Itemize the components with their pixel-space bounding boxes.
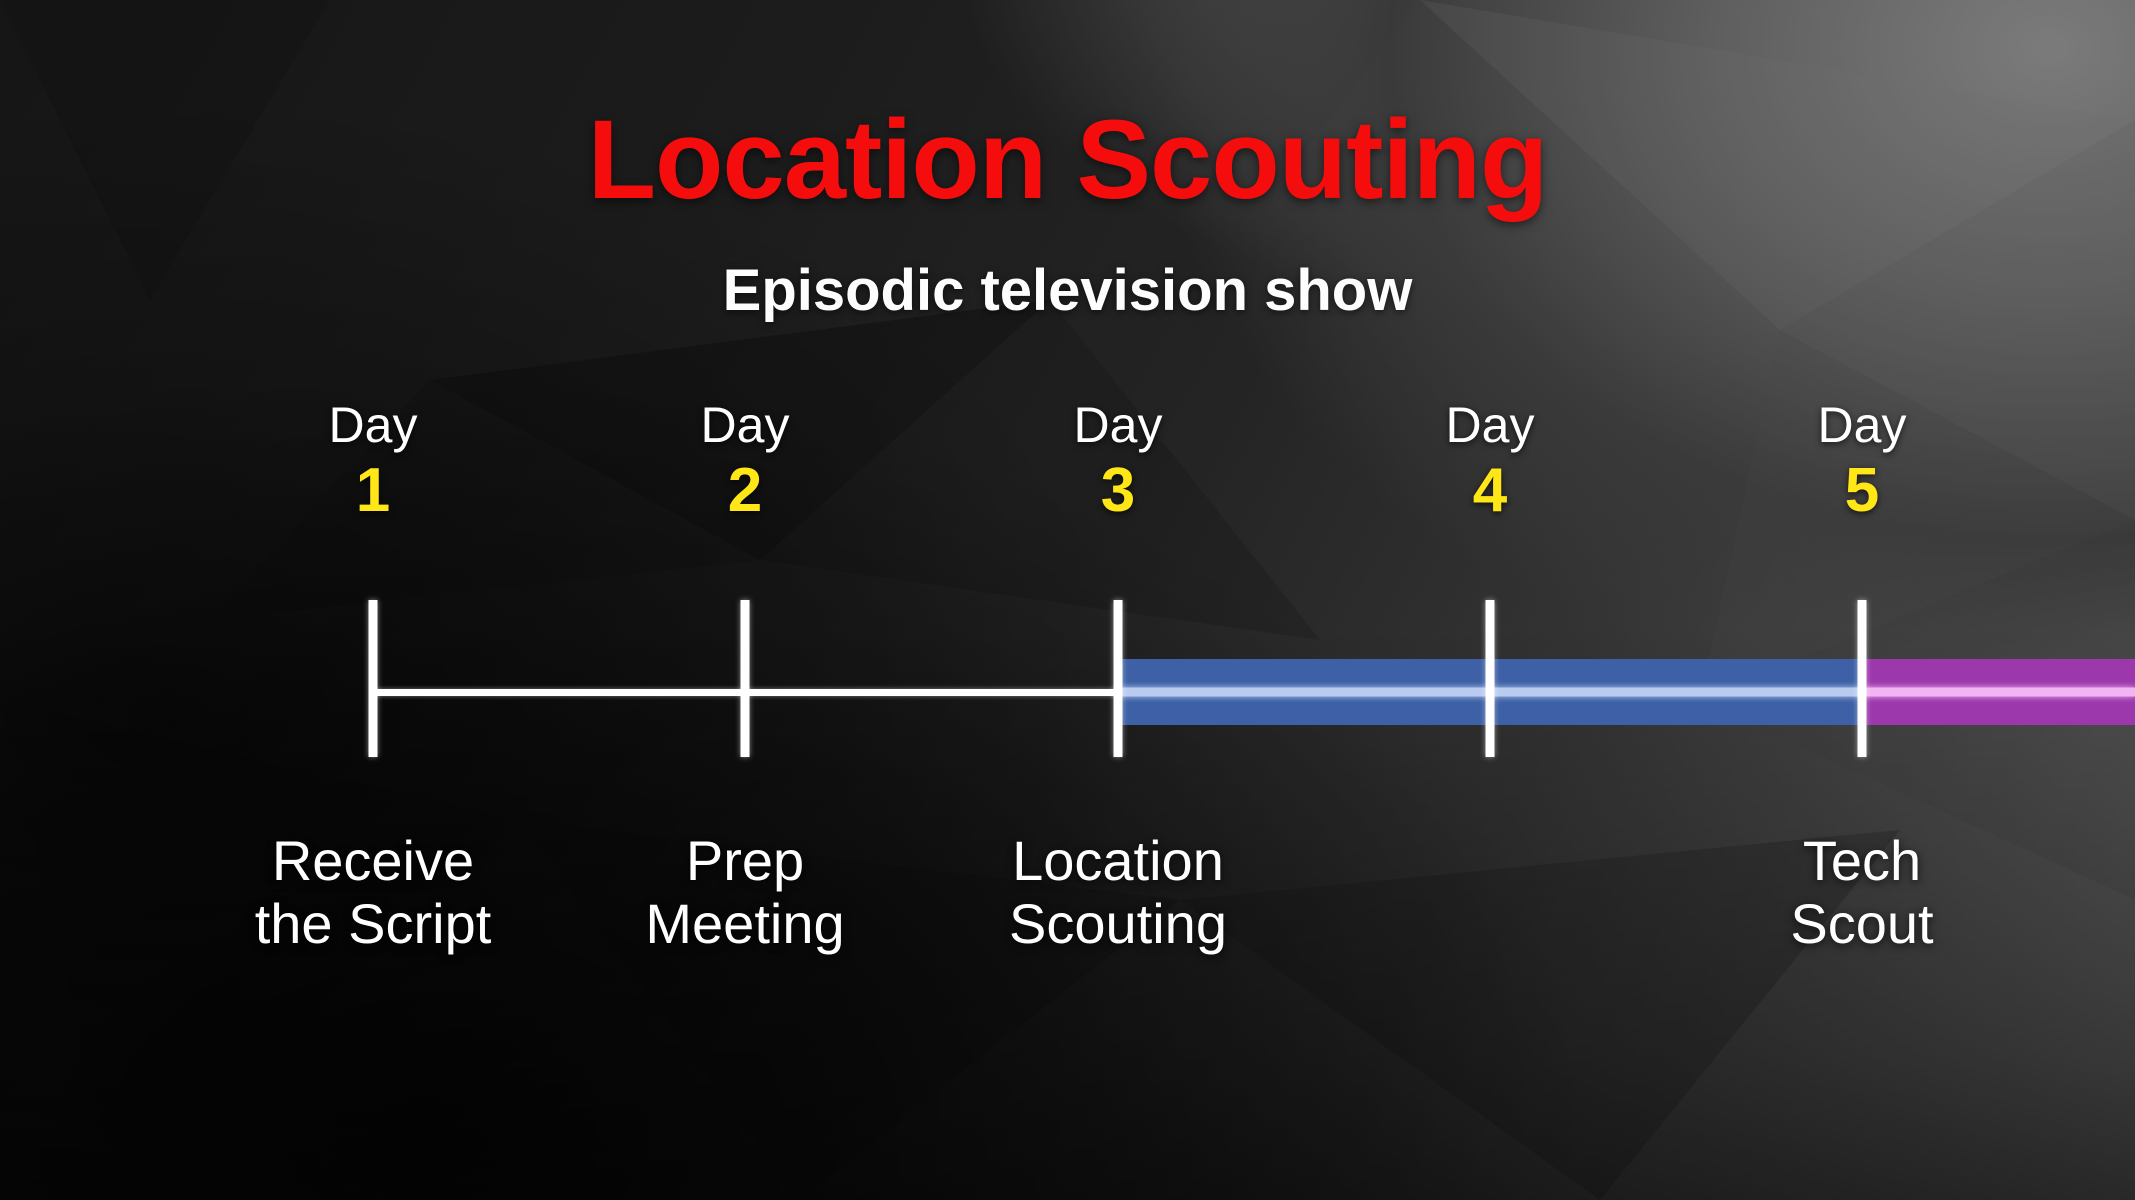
timeline-tick-day-2 — [741, 600, 750, 757]
timeline-tick-day-3 — [1114, 600, 1123, 757]
timeline-tick-day-4 — [1486, 600, 1495, 757]
event-label-line: Prep — [535, 830, 955, 893]
event-label-line: the Script — [163, 893, 583, 956]
day-number: 2 — [595, 460, 895, 522]
day-number: 4 — [1340, 460, 1640, 522]
day-label-2: Day2 — [595, 400, 895, 522]
day-number: 5 — [1712, 460, 2012, 522]
slide-canvas: Location Scouting Episodic television sh… — [0, 0, 2135, 1200]
day-label-5: Day5 — [1712, 400, 2012, 522]
day-word: Day — [1340, 400, 1640, 450]
day-word: Day — [1712, 400, 2012, 450]
event-label-line: Scout — [1652, 893, 2072, 956]
event-label-line: Location — [908, 830, 1328, 893]
timeline-graphic: Day1Receivethe ScriptDay2PrepMeetingDay3… — [0, 0, 2135, 1200]
event-label-day-2: PrepMeeting — [535, 830, 955, 955]
event-label-line: Scouting — [908, 893, 1328, 956]
day-number: 1 — [223, 460, 523, 522]
timeline-tick-day-1 — [369, 600, 378, 757]
segment-center-line — [1862, 688, 2135, 697]
event-label-day-5: TechScout — [1652, 830, 2072, 955]
event-label-day-1: Receivethe Script — [163, 830, 583, 955]
day-word: Day — [223, 400, 523, 450]
day-label-1: Day1 — [223, 400, 523, 522]
day-word: Day — [968, 400, 1268, 450]
day-number: 3 — [968, 460, 1268, 522]
event-label-day-3: LocationScouting — [908, 830, 1328, 955]
timeline-segment-tech-scout-block — [1862, 659, 2135, 725]
event-label-line: Tech — [1652, 830, 2072, 893]
day-word: Day — [595, 400, 895, 450]
timeline-tick-day-5 — [1858, 600, 1867, 757]
day-label-3: Day3 — [968, 400, 1268, 522]
event-label-line: Receive — [163, 830, 583, 893]
day-label-4: Day4 — [1340, 400, 1640, 522]
event-label-line: Meeting — [535, 893, 955, 956]
